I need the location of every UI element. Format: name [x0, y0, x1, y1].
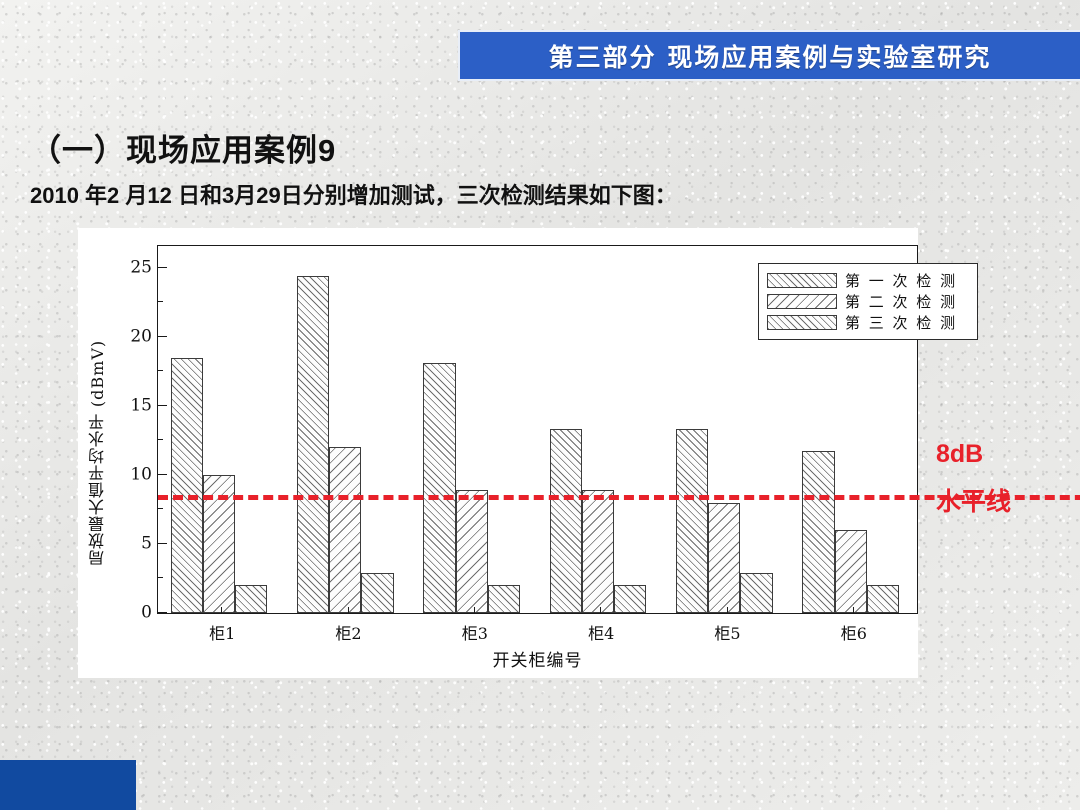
x-axis-tick: 柜3	[474, 607, 475, 613]
y-axis-tick-label: 0	[141, 603, 152, 623]
corner-decoration-block	[0, 760, 136, 810]
plot-frame: 0510152025柜1柜2柜3柜4柜5柜6 第 一 次 检 测 第 二 次 检…	[157, 245, 918, 614]
x-axis-tick-label: 柜1	[209, 620, 235, 644]
y-axis-tick: 0	[158, 612, 167, 613]
legend-item: 第 二 次 检 测	[767, 291, 969, 312]
bar	[329, 447, 361, 613]
page-subtitle: 2010 年2 月12 日和3月29日分别增加测试，三次检测结果如下图：	[30, 178, 677, 210]
bar	[614, 585, 646, 613]
bar	[361, 573, 393, 613]
y-axis-minor-tick	[158, 439, 163, 440]
legend-swatch-second-test	[767, 294, 837, 309]
y-axis-title: 局放最大值平均水平 (dBmV)	[86, 340, 110, 566]
bar	[676, 429, 708, 613]
x-axis-tick-label: 柜6	[841, 620, 867, 644]
bar	[835, 530, 867, 613]
y-axis-tick: 10	[158, 474, 167, 475]
y-axis-tick: 5	[158, 543, 167, 544]
page-title: （一）现场应用案例9	[30, 125, 336, 170]
y-axis-minor-tick	[158, 370, 163, 371]
x-axis-tick: 柜6	[853, 607, 854, 613]
legend-swatch-third-test	[767, 315, 837, 330]
chart-legend: 第 一 次 检 测 第 二 次 检 测 第 三 次 检 测	[758, 263, 978, 340]
x-axis-tick-label: 柜2	[335, 620, 361, 644]
y-axis-minor-tick	[158, 508, 163, 509]
bar	[582, 490, 614, 613]
legend-swatch-first-test	[767, 273, 837, 288]
legend-label-second-test: 第 二 次 检 测	[845, 291, 957, 312]
x-axis-tick: 柜5	[727, 607, 728, 613]
header-banner-text: 第三部分 现场应用案例与实验室研究	[549, 38, 992, 74]
y-axis-tick-label: 25	[130, 257, 152, 277]
y-axis-tick: 20	[158, 336, 167, 337]
legend-item: 第 一 次 检 测	[767, 270, 969, 291]
bar	[708, 503, 740, 613]
header-banner: 第三部分 现场应用案例与实验室研究	[458, 30, 1080, 81]
y-axis-minor-tick	[158, 577, 163, 578]
bar	[297, 276, 329, 613]
threshold-label-value: 8dB	[936, 440, 983, 469]
chart-panel: 局放最大值平均水平 (dBmV) 0510152025柜1柜2柜3柜4柜5柜6 …	[78, 228, 918, 678]
bar	[423, 363, 455, 613]
y-axis-tick-label: 15	[130, 395, 152, 415]
bar	[488, 585, 520, 613]
bar	[740, 573, 772, 613]
x-axis-tick: 柜4	[600, 607, 601, 613]
legend-item: 第 三 次 检 测	[767, 312, 969, 333]
x-axis-tick: 柜2	[348, 607, 349, 613]
bar	[235, 585, 267, 613]
bar	[456, 490, 488, 613]
bar	[867, 585, 899, 613]
x-axis-tick: 柜1	[221, 607, 222, 613]
y-axis-minor-tick	[158, 301, 163, 302]
legend-label-first-test: 第 一 次 检 测	[845, 270, 957, 291]
bar	[171, 358, 203, 614]
threshold-label-caption: 水平线	[936, 482, 1011, 518]
legend-label-third-test: 第 三 次 检 测	[845, 312, 957, 333]
bar	[550, 429, 582, 613]
x-axis-tick-label: 柜3	[462, 620, 488, 644]
bar	[802, 451, 834, 613]
y-axis-tick-label: 20	[130, 326, 152, 346]
y-axis-tick: 15	[158, 405, 167, 406]
x-axis-tick-label: 柜4	[588, 620, 614, 644]
x-axis-title: 开关柜编号	[157, 646, 918, 671]
y-axis-tick-label: 10	[130, 464, 152, 484]
y-axis-tick-label: 5	[141, 534, 152, 554]
x-axis-tick-label: 柜5	[714, 620, 740, 644]
y-axis-tick: 25	[158, 267, 167, 268]
